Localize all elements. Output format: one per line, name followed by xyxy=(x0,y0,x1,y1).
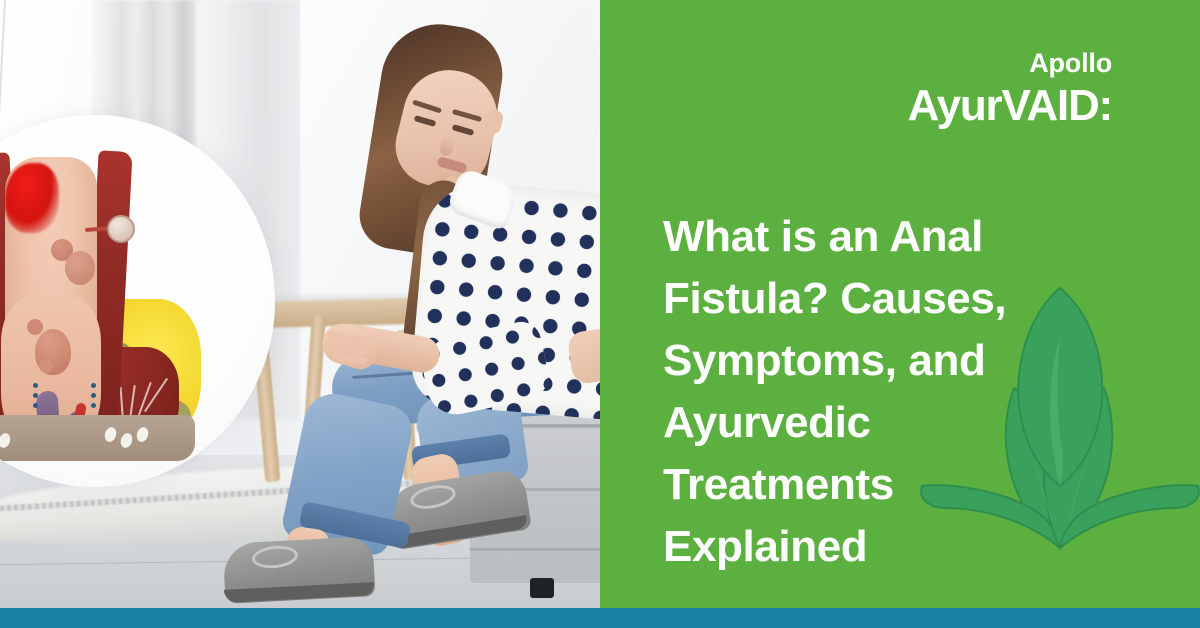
logo-ayurvaid-text: AyurVAID: xyxy=(908,84,1112,128)
bottom-accent-bar xyxy=(0,608,1200,628)
sofa-seam xyxy=(470,548,600,551)
inflammation-bleeding xyxy=(5,163,59,233)
lesion xyxy=(65,251,95,285)
logo-apollo-text: Apollo xyxy=(908,50,1112,77)
banner-root: Apollo AyurVAID: What is an Anal Fistula… xyxy=(0,0,1200,628)
anorectal-model xyxy=(0,147,199,447)
perianal-skin-base xyxy=(0,415,195,461)
page-title: What is an Anal Fistula? Causes, Symptom… xyxy=(663,206,1083,578)
apollo-ayurvaid-logo[interactable]: Apollo AyurVAID: xyxy=(908,50,1112,128)
logo-ayur-part: Ayur xyxy=(908,81,1002,130)
fistula-opening xyxy=(107,215,135,243)
lesion xyxy=(27,319,43,335)
hero-photo xyxy=(0,0,600,608)
sofa-foot xyxy=(530,578,554,598)
lesion xyxy=(39,359,53,373)
logo-vaid-part: VAID: xyxy=(1001,81,1112,130)
